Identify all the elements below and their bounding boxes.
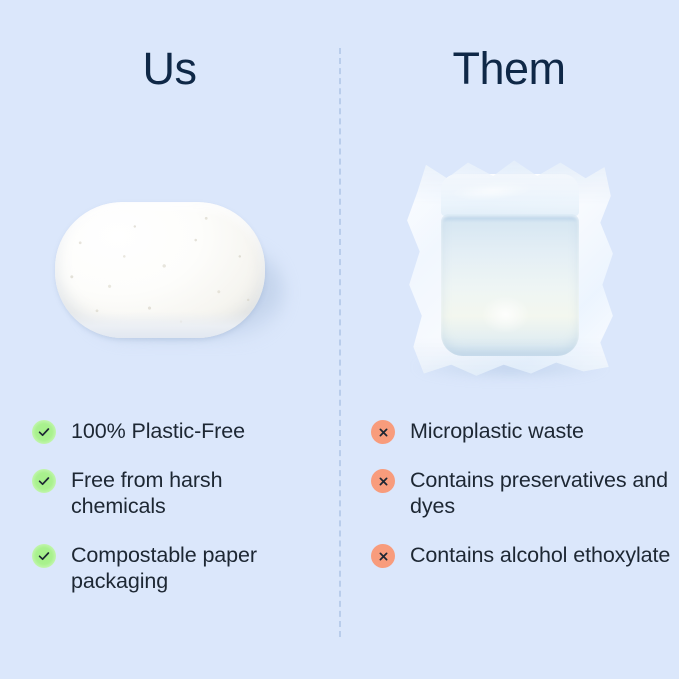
tablet-icon	[55, 202, 265, 338]
list-item: Contains preservatives and dyes	[371, 467, 671, 519]
list-item-label: Compostable paper packaging	[71, 542, 322, 594]
tablet-bottom-rim	[55, 312, 265, 338]
cross-icon	[371, 544, 395, 568]
list-item: Microplastic waste	[371, 418, 671, 444]
check-icon	[32, 420, 56, 444]
pod-icon	[405, 156, 615, 378]
product-image-them	[339, 140, 679, 390]
list-item-label: 100% Plastic-Free	[71, 418, 245, 444]
benefit-list-us: 100% Plastic-Free Free from harsh chemic…	[32, 418, 322, 594]
comparison-infographic: Us Them 100% Plastic-	[0, 0, 679, 679]
list-item-label: Contains alcohol ethoxylate	[410, 542, 670, 568]
check-icon	[32, 544, 56, 568]
pod-film-creases	[405, 156, 615, 378]
cross-icon	[371, 420, 395, 444]
list-item-label: Contains preservatives and dyes	[410, 467, 671, 519]
list-item: Free from harsh chemicals	[32, 467, 322, 519]
check-icon	[32, 469, 56, 493]
column-heading-us: Us	[0, 46, 339, 91]
list-item: Compostable paper packaging	[32, 542, 322, 594]
list-item-label: Microplastic waste	[410, 418, 584, 444]
benefit-list-them: Microplastic waste Contains preservative…	[371, 418, 671, 568]
list-item: 100% Plastic-Free	[32, 418, 322, 444]
cross-icon	[371, 469, 395, 493]
list-item: Contains alcohol ethoxylate	[371, 542, 671, 568]
product-image-us	[0, 140, 339, 390]
column-heading-them: Them	[339, 46, 679, 91]
list-item-label: Free from harsh chemicals	[71, 467, 322, 519]
